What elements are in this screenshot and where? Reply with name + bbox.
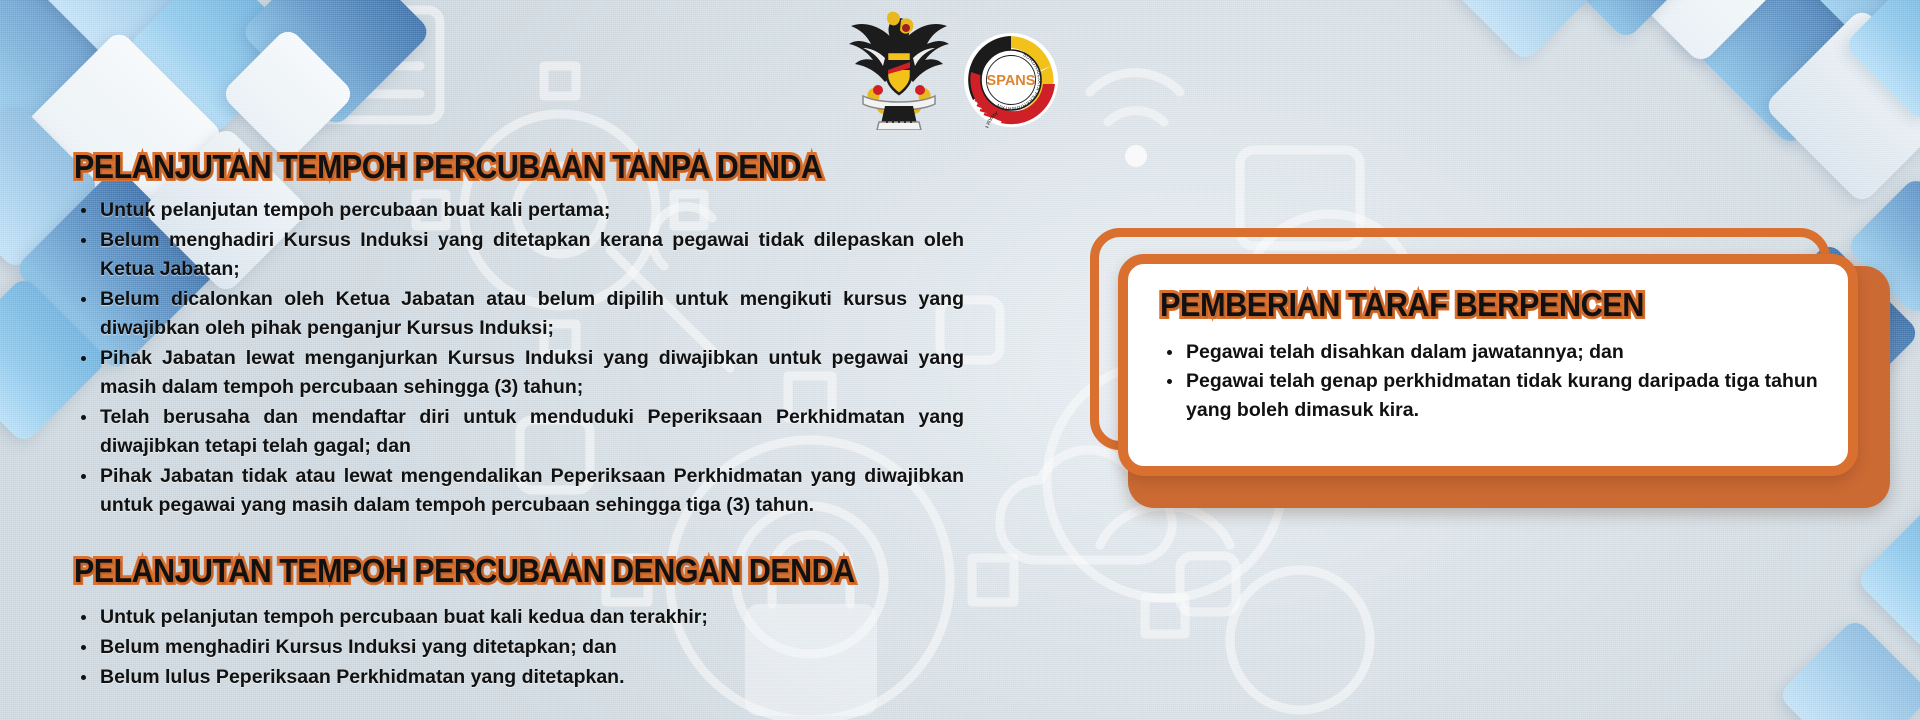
panel-card: PEMBERIAN TARAF BERPENCEN Pegawai telah … [1118,254,1858,476]
spans-logo-icon: SURUHANJAYA PERKHIDMATAN AWAM NEGERI SAR… [963,32,1059,128]
svg-text:SPANS: SPANS [987,73,1036,89]
list-item: Belum lulus Peperiksaan Perkhidmatan yan… [74,663,964,692]
list-item: Belum menghadiri Kursus Induksi yang dit… [74,633,964,662]
logo-group: SURUHANJAYA PERKHIDMATAN AWAM NEGERI SAR… [845,4,1075,132]
heading-pelanjutan-dengan-denda: PELANJUTAN TEMPOH PERCUBAAN DENGAN DENDA [74,552,855,590]
heading-pelanjutan-tanpa-denda: PELANJUTAN TEMPOH PERCUBAAN TANPA DENDA [74,148,822,186]
list-item: Telah berusaha dan mendaftar diri untuk … [74,403,964,461]
bullet-list-berpencen: Pegawai telah disahkan dalam jawatannya;… [1160,338,1818,425]
bullet-list-tanpa-denda: Untuk pelanjutan tempoh percubaan buat k… [74,196,964,521]
list-item: Pihak Jabatan tidak atau lewat mengendal… [74,462,964,520]
list-item: Untuk pelanjutan tempoh percubaan buat k… [74,603,964,632]
list-item: Pegawai telah genap perkhidmatan tidak k… [1160,367,1818,425]
poster-canvas: SURUHANJAYA PERKHIDMATAN AWAM NEGERI SAR… [0,0,1920,720]
list-item: Untuk pelanjutan tempoh percubaan buat k… [74,196,964,225]
heading-pemberian-taraf-berpencen: PEMBERIAN TARAF BERPENCEN [1160,286,1772,324]
bullet-list-dengan-denda: Untuk pelanjutan tempoh percubaan buat k… [74,603,964,693]
list-item: Belum dicalonkan oleh Ketua Jabatan atau… [74,285,964,343]
list-item: Belum menghadiri Kursus Induksi yang dit… [74,226,964,284]
decorative-diamond [1777,617,1920,720]
sarawak-coat-of-arms-icon [845,4,953,130]
right-info-panel: PEMBERIAN TARAF BERPENCEN Pegawai telah … [1090,228,1890,508]
decorative-diamond [1447,0,1603,63]
list-item: Pihak Jabatan lewat menganjurkan Kursus … [74,344,964,402]
list-item: Pegawai telah disahkan dalam jawatannya;… [1160,338,1818,367]
